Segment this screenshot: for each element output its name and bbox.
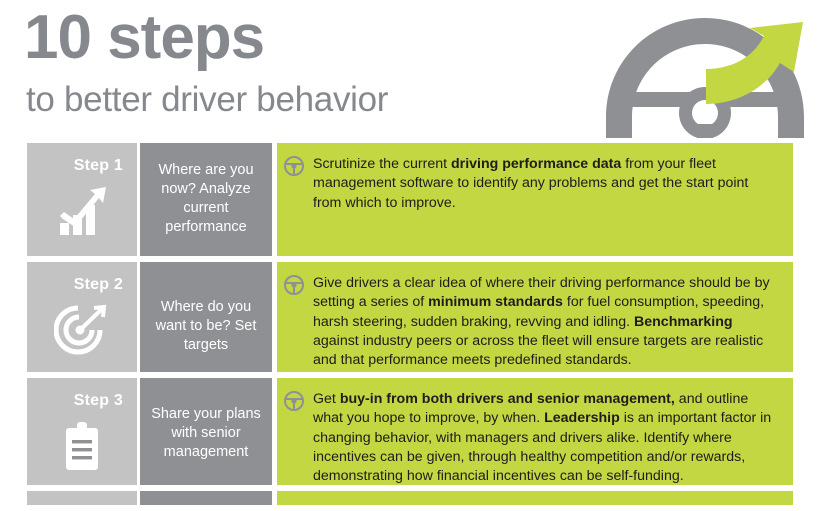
step-row-partial — [0, 491, 820, 505]
step-label: Step 1 — [27, 157, 123, 175]
step-body-text: Scrutinize the current driving performan… — [287, 155, 779, 213]
target-bullseye-arrow-icon — [54, 302, 110, 358]
step-body-cell: Scrutinize the current driving performan… — [277, 143, 793, 256]
step-question: Share your plans with senior management — [146, 405, 266, 462]
step-body-text: Get buy-in from both drivers and senior … — [287, 390, 779, 486]
step-row: Step 2 Where do you want to be? Set targ… — [0, 262, 820, 372]
step-number-cell: Step 1 — [27, 143, 137, 256]
steering-wheel-icon — [284, 391, 304, 411]
steering-wheel-with-green-arrow-icon — [598, 14, 812, 138]
page-title: 10 steps — [24, 7, 264, 69]
step-body-cell — [277, 491, 793, 505]
step-number-cell: Step 3 — [27, 378, 137, 485]
step-question: Where do you want to be? Set targets — [146, 298, 266, 355]
step-question-cell: Where are you now? Analyze current perfo… — [140, 143, 272, 256]
header: 10 steps to better driver behavior — [0, 0, 820, 140]
steering-wheel-icon — [284, 275, 304, 295]
bar-chart-growth-arrow-icon — [54, 183, 110, 239]
step-label: Step 2 — [27, 276, 123, 294]
step-row: Step 1 Where are you now? Analyze curren… — [0, 143, 820, 256]
page-subtitle: to better driver behavior — [26, 82, 388, 117]
step-body-cell: Give drivers a clear idea of where their… — [277, 262, 793, 372]
infographic-page: 10 steps to better driver behavior S — [0, 0, 820, 493]
step-label: Step 3 — [27, 392, 123, 410]
clipboard-icon — [54, 418, 110, 474]
step-question-cell — [140, 491, 272, 505]
step-number-cell — [27, 491, 137, 505]
step-question-cell: Where do you want to be? Set targets — [140, 262, 272, 372]
step-question: Where are you now? Analyze current perfo… — [146, 161, 266, 237]
step-question-cell: Share your plans with senior management — [140, 378, 272, 485]
step-body-text: Give drivers a clear idea of where their… — [287, 274, 779, 370]
step-row: Step 3 Share your plans with senior mana… — [0, 378, 820, 485]
steps-list: Step 1 Where are you now? Analyze curren… — [0, 143, 820, 511]
step-body-cell: Get buy-in from both drivers and senior … — [277, 378, 793, 485]
steering-wheel-icon — [284, 156, 304, 176]
step-number-cell: Step 2 — [27, 262, 137, 372]
